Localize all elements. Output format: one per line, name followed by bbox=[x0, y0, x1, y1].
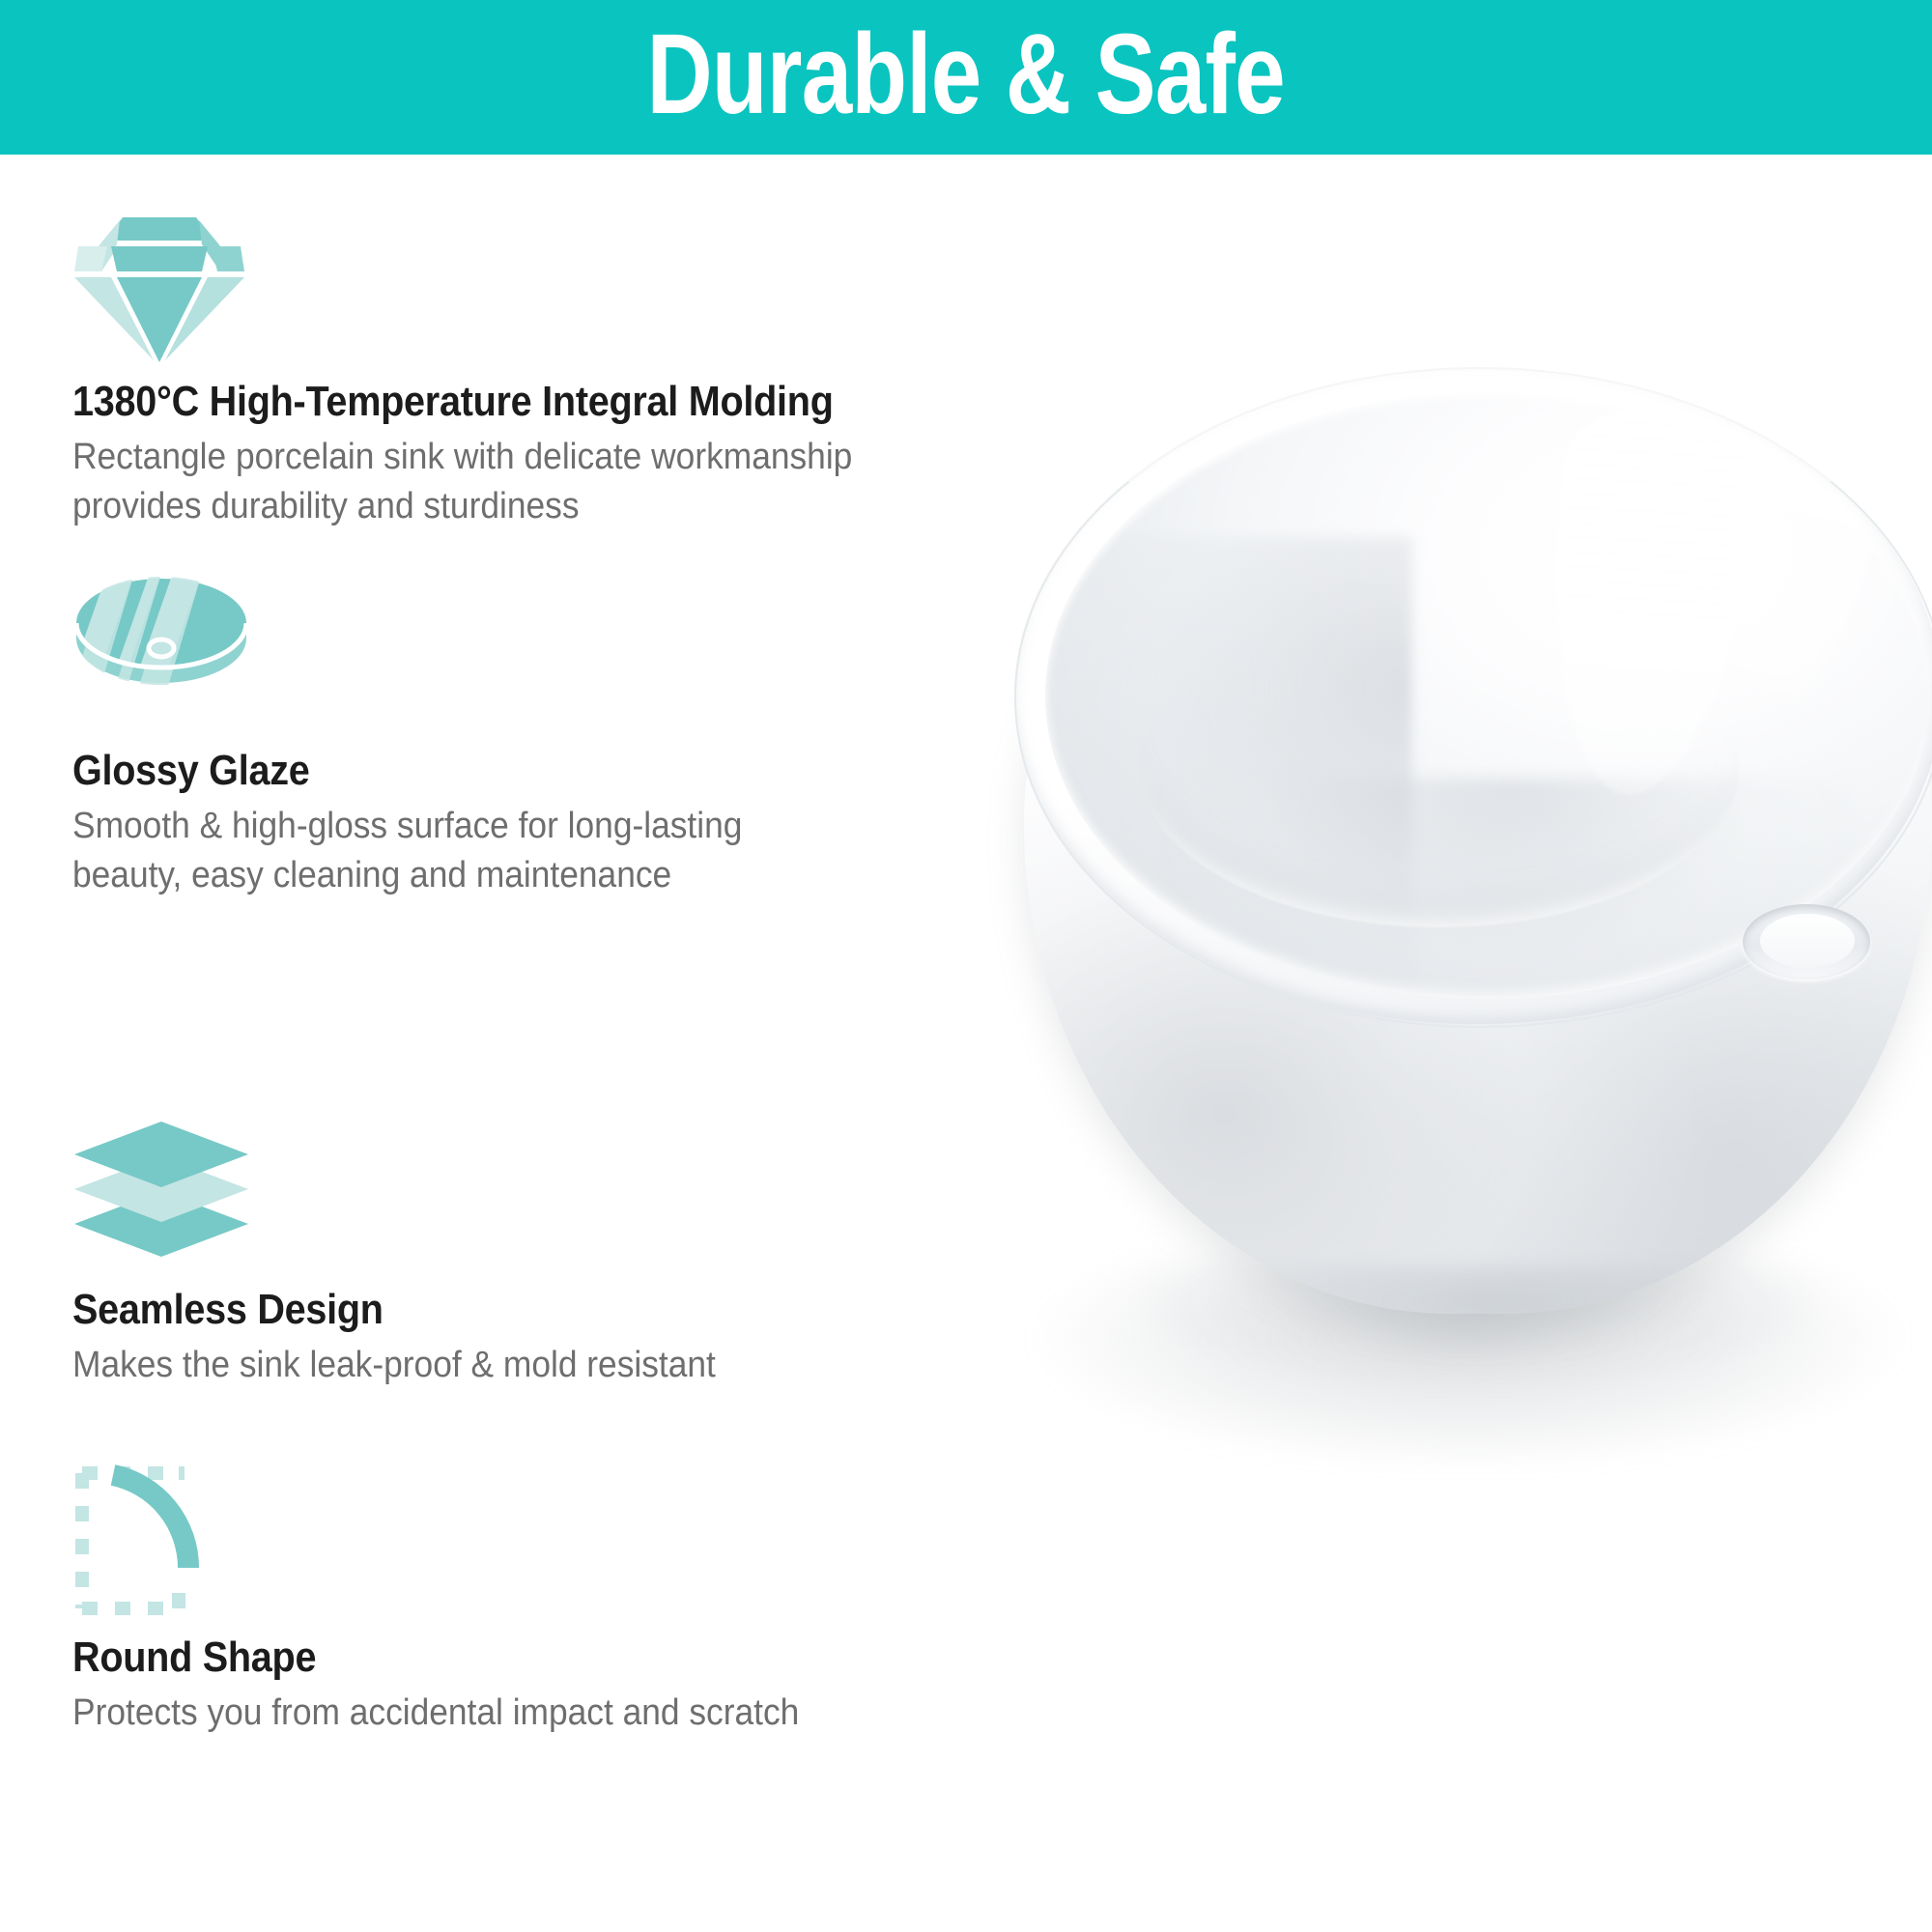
sink-contact-shadow bbox=[1140, 1265, 1816, 1381]
feature-item-glaze: Glossy Glaze Smooth & high-gloss surface… bbox=[72, 577, 793, 900]
sink-drop-shadow bbox=[1034, 1207, 1903, 1468]
sink-bottom-shading bbox=[1161, 779, 1857, 999]
sink-drain-inner bbox=[1760, 914, 1855, 968]
feature-body: Makes the sink leak-proof & mold resista… bbox=[72, 1341, 716, 1390]
stacked-layers-icon bbox=[72, 1116, 295, 1280]
feature-body-line: Protects you from accidental impact and … bbox=[72, 1689, 799, 1738]
product-image-sink bbox=[1024, 367, 1932, 1739]
feature-body-line: Makes the sink leak-proof & mold resista… bbox=[72, 1341, 716, 1390]
feature-item-round-shape: Round Shape Protects you from accidental… bbox=[72, 1463, 854, 1738]
header-banner: Durable & Safe bbox=[0, 0, 1932, 155]
sink-basin-interior bbox=[1045, 392, 1930, 999]
feature-title: Seamless Design bbox=[72, 1286, 695, 1333]
page-title: Durable & Safe bbox=[647, 17, 1285, 131]
feature-body-line: Smooth & high-gloss surface for long-las… bbox=[72, 802, 742, 851]
feature-body: Rectangle porcelain sink with delicate w… bbox=[72, 433, 859, 531]
diamond-icon bbox=[72, 208, 295, 372]
infographic-page: Durable & Safe bbox=[0, 0, 1932, 1932]
sink-outer-body bbox=[1024, 406, 1932, 1314]
feature-title: Round Shape bbox=[72, 1634, 776, 1681]
feature-body: Protects you from accidental impact and … bbox=[72, 1689, 799, 1738]
sink-highlight-primary bbox=[1524, 399, 1773, 808]
sink-rim bbox=[1014, 367, 1932, 1024]
feature-title: Glossy Glaze bbox=[72, 747, 721, 794]
feature-body-line: beauty, easy cleaning and maintenance bbox=[72, 851, 742, 900]
sink-drain-hole bbox=[1743, 904, 1870, 980]
sink-rim-edge-line bbox=[1014, 367, 1932, 1028]
sink-rim-lip-highlight bbox=[1045, 392, 1930, 999]
rounded-corner-icon bbox=[72, 1463, 295, 1628]
feature-body-line: provides durability and sturdiness bbox=[72, 482, 859, 531]
feature-body-line: Rectangle porcelain sink with delicate w… bbox=[72, 433, 859, 482]
feature-title: 1380°C High-Temperature Integral Molding bbox=[72, 378, 834, 425]
sink-highlight-secondary bbox=[1690, 392, 1897, 732]
feature-item-molding: 1380°C High-Temperature Integral Molding… bbox=[72, 208, 918, 531]
sink-left-shading bbox=[1045, 537, 1412, 999]
glossy-disc-icon bbox=[72, 577, 295, 741]
feature-body: Smooth & high-gloss surface for long-las… bbox=[72, 802, 742, 900]
feature-item-seamless: Seamless Design Makes the sink leak-proo… bbox=[72, 1116, 764, 1390]
sink-reflection-arc bbox=[1140, 609, 1739, 927]
